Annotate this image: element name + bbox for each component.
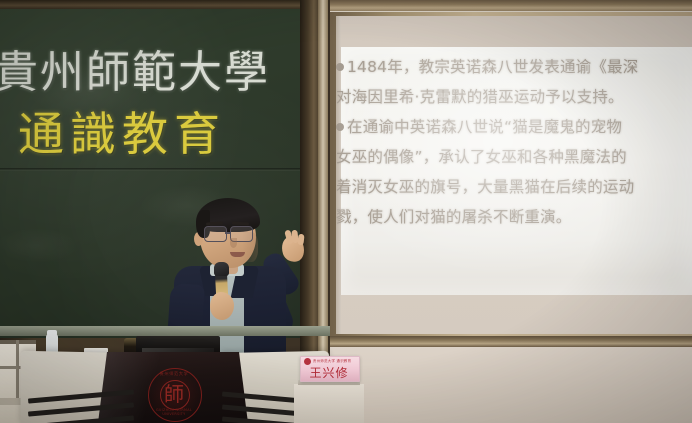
bullet-icon xyxy=(336,63,344,71)
blackboard-subtitle-line: 通識教育 xyxy=(18,98,338,164)
speaker-figure xyxy=(158,196,308,346)
slide-line-5: 着消灭女巫的旗号，大量黑猫在后续的运动 xyxy=(336,172,692,202)
wall-trim-bottom xyxy=(330,336,692,347)
emblem-center-character: 師 xyxy=(160,380,188,408)
speaker-nose xyxy=(230,238,237,248)
speaker-hand-holding-microphone xyxy=(210,292,234,320)
slide-line-2-text: 对海因里希·克雷默的猎巫运动予以支持。 xyxy=(336,88,624,106)
blackboard-title-line: 貴州師範大學 xyxy=(0,36,314,100)
window-mullion-vertical xyxy=(16,340,19,400)
placard-org-text: 贵州师范大学 通识教育 xyxy=(313,358,355,363)
slide-line-5-text: 着消灭女巫的旗号，大量黑猫在后续的运动 xyxy=(336,178,634,196)
blackboard-frame-top xyxy=(0,0,322,9)
slide-line-4: 女巫的偶像”，承认了女巫和各种黑魔法的 xyxy=(336,142,692,172)
emblem-bottom-text: GUIZHOU NORMAL UNIVERSITY xyxy=(150,408,198,416)
placard-base xyxy=(294,384,364,423)
slide-line-6: 戮，使人们对猫的屠杀不断重演。 xyxy=(336,202,692,232)
slide-line-4-text: 女巫的偶像”，承认了女巫和各种黑魔法的 xyxy=(336,148,627,166)
slide-line-3: 在通谕中英诺森八世说“猫是魔鬼的宠物 xyxy=(336,112,692,142)
slide-line-1: 1484年，教宗英诺森八世发表通谕《最深 xyxy=(336,52,692,82)
slide-line-1-text: 1484年，教宗英诺森八世发表通谕《最深 xyxy=(347,58,638,76)
microphone-head xyxy=(214,262,229,276)
glasses-lens-left xyxy=(204,226,227,242)
slide-text-block: 1484年，教宗英诺森八世发表通谕《最深 对海因里希·克雷默的猎巫运动予以支持。… xyxy=(336,52,692,292)
wall-lower-panel xyxy=(330,347,692,423)
blackboard-frame-right-highlight xyxy=(318,0,328,380)
slide-line-6-text: 戮，使人们对猫的屠杀不断重演。 xyxy=(336,208,572,226)
slide-line-2: 对海因里希·克雷默的猎巫运动予以支持。 xyxy=(336,82,692,112)
blackboard-divider xyxy=(0,168,304,171)
placard-name-text: 王兴修 xyxy=(300,364,358,381)
emblem-top-text: 贵州师范大学 xyxy=(152,371,196,377)
slide-line-3-text: 在通谕中英诺森八世说“猫是魔鬼的宠物 xyxy=(347,118,622,136)
speaker-finger xyxy=(297,234,304,246)
lecture-hall-photo: 1484年，教宗英诺森八世发表通谕《最深 对海因里希·克雷默的猎巫运动予以支持。… xyxy=(0,0,692,423)
